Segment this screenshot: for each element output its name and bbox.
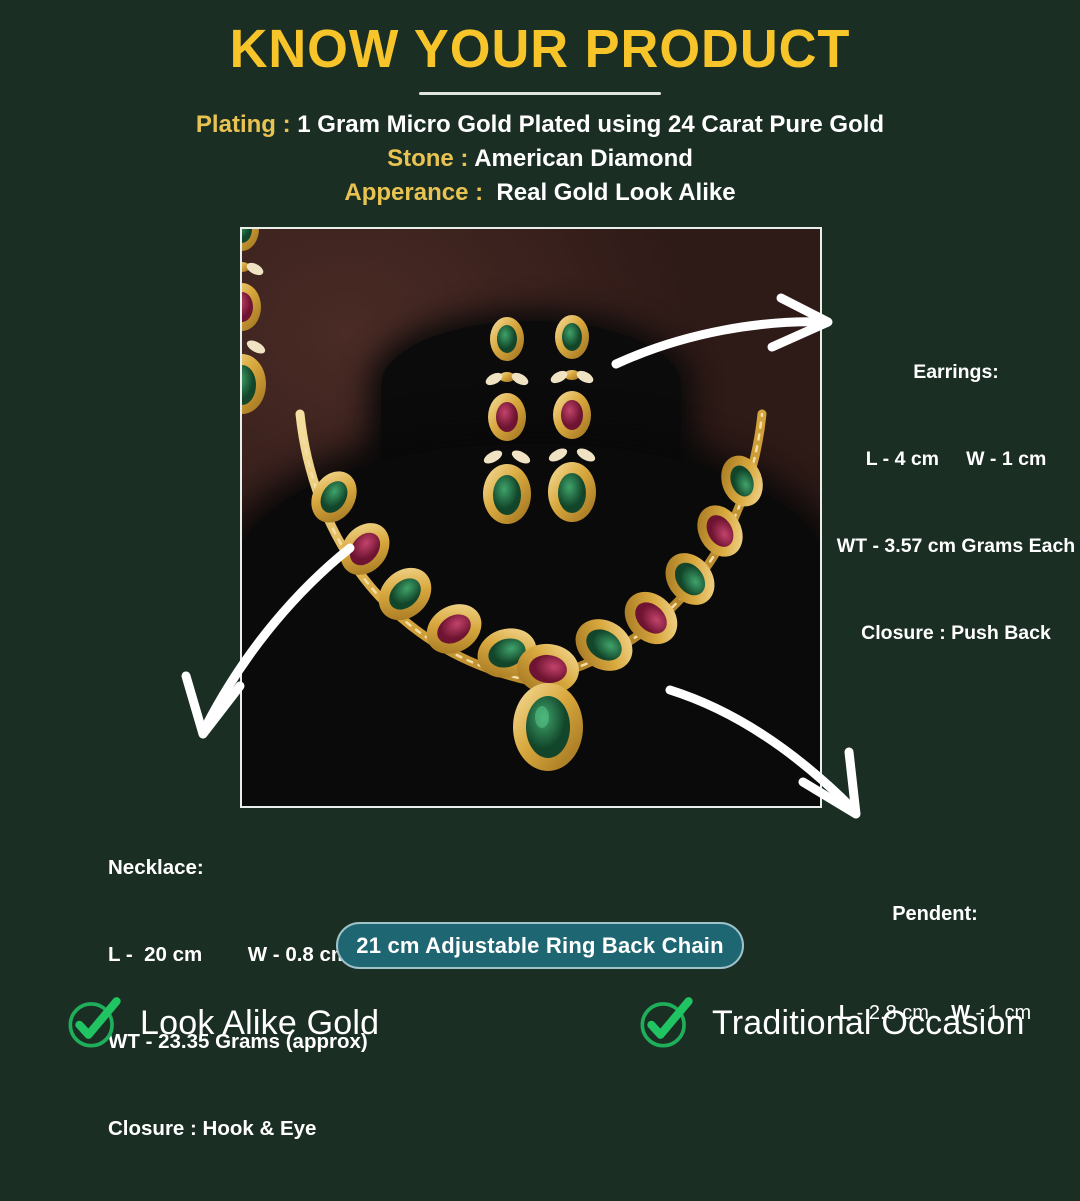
spec-list: Plating : 1 Gram Micro Gold Plated using… — [0, 108, 1080, 210]
spec-row-apperance: Apperance : Real Gold Look Alike — [0, 176, 1080, 210]
infographic-page: KNOW YOUR PRODUCT Plating : 1 Gram Micro… — [0, 0, 1080, 1080]
callout-necklace-closure: Closure : Hook & Eye — [108, 1114, 488, 1143]
spec-label-stone: Stone : — [387, 145, 474, 172]
feature-traditional-occasion: Traditional Occasion — [636, 994, 1025, 1052]
callout-earrings-title: Earrings: — [832, 358, 1080, 387]
callout-earrings-dimensions: L - 4 cm W - 1 cm — [832, 445, 1080, 474]
callout-earrings-weight: WT - 3.57 cm Grams Each — [832, 532, 1080, 561]
feature-row: Look Alike Gold Traditional Occasion — [0, 994, 1080, 1074]
check-circle-icon — [636, 994, 694, 1052]
check-circle-icon — [64, 994, 122, 1052]
title-divider — [419, 92, 661, 95]
adjustable-chain-badge: 21 cm Adjustable Ring Back Chain — [336, 922, 744, 969]
callout-earrings-closure: Closure : Push Back — [832, 619, 1080, 648]
callout-necklace-title: Necklace: — [108, 853, 488, 882]
spec-row-stone: Stone : American Diamond — [0, 142, 1080, 176]
spec-value-plating: 1 Gram Micro Gold Plated using 24 Carat … — [297, 111, 884, 138]
product-photo — [240, 227, 822, 808]
feature-label: Look Alike Gold — [140, 1004, 379, 1043]
necklace-graphic — [242, 229, 820, 806]
spec-label-apperance: Apperance : — [344, 179, 489, 206]
spec-label-plating: Plating : — [196, 111, 297, 138]
spec-value-apperance: Real Gold Look Alike — [490, 179, 736, 206]
callout-earrings: Earrings: L - 4 cm W - 1 cm WT - 3.57 cm… — [832, 300, 1080, 706]
callout-pendent-title: Pendent: — [790, 898, 1080, 931]
page-title: KNOW YOUR PRODUCT — [16, 18, 1064, 80]
feature-look-alike-gold: Look Alike Gold — [64, 994, 379, 1052]
spec-value-stone: American Diamond — [474, 145, 693, 172]
spec-row-plating: Plating : 1 Gram Micro Gold Plated using… — [0, 108, 1080, 142]
feature-label: Traditional Occasion — [712, 1004, 1025, 1043]
